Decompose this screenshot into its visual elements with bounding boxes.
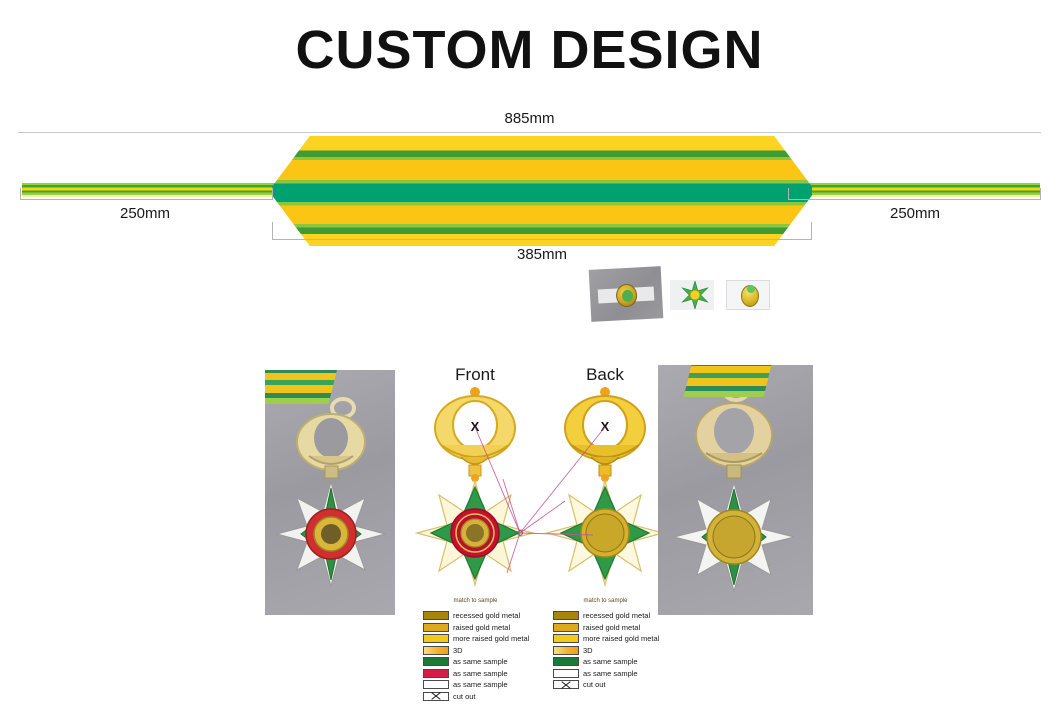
reference-photo-back (658, 365, 813, 615)
legend-label: as same sample (583, 657, 638, 666)
legend-label: more raised gold metal (453, 634, 529, 643)
dimension-label-center: 385mm (272, 246, 812, 263)
medal-design-panel: Front X (0, 355, 1059, 713)
photo-ribbon-back (684, 365, 773, 397)
oval-medal-thumbnail (726, 280, 770, 310)
legend-row: as same sample (553, 668, 659, 679)
cutout-mark-back: X (601, 419, 610, 434)
photo-thumbnail (589, 266, 664, 322)
dimension-label-total: 885mm (0, 110, 1059, 127)
dimension-label-right-tail: 250mm (790, 205, 1040, 222)
back-design-drawing: X (545, 383, 665, 598)
medal-photo-front-art (265, 370, 395, 615)
top-dimension-rule (18, 132, 1041, 133)
legend-color-swatch (423, 657, 449, 666)
legend-color-swatch (553, 669, 579, 678)
legend-row: as same sample (423, 668, 529, 679)
legend-row: more raised gold metal (553, 633, 659, 644)
legend-label: as same sample (453, 680, 508, 689)
legend-row: raised gold metal (553, 622, 659, 633)
legend-label: as same sample (583, 669, 638, 678)
legend-color-swatch (553, 611, 579, 620)
dimension-bracket-center (272, 222, 812, 240)
ribbon-dimension-diagram: 885mm 250mm 250mm 385mm (0, 110, 1059, 270)
legend-row: 3D (423, 645, 529, 656)
legend-row: as same sample (423, 656, 529, 667)
match-note-front: match to sample (418, 598, 533, 604)
legend-row: as same sample (423, 679, 529, 690)
legend-row: as same sample (553, 656, 659, 667)
custom-design-sheet: CUSTOM DESIGN 885mm 250mm 250mm 385mm (0, 0, 1059, 713)
legend-label: raised gold metal (583, 623, 640, 632)
star-badge-icon (681, 281, 709, 309)
back-view-label: Back (550, 365, 660, 385)
front-design-drawing: X (415, 383, 535, 598)
legend-label: cut out (583, 680, 606, 689)
front-view-label: Front (420, 365, 530, 385)
reference-photo-front (265, 370, 395, 615)
legend-row: 3D (553, 645, 659, 656)
legend-color-swatch (423, 646, 449, 655)
thumbnail-medal-icon (615, 283, 637, 307)
legend-color-swatch (423, 611, 449, 620)
cutout-mark-front: X (471, 419, 480, 434)
legend-color-swatch (553, 657, 579, 666)
legend-row: raised gold metal (423, 622, 529, 633)
dimension-bracket-left (20, 188, 273, 200)
legend-label: recessed gold metal (583, 611, 650, 620)
legend-label: recessed gold metal (453, 611, 520, 620)
legend-row: cut out (553, 679, 659, 690)
legend-label: 3D (453, 646, 463, 655)
thumbnail-row (590, 268, 810, 323)
cutout-swatch-icon (553, 680, 579, 689)
legend-label: as same sample (453, 669, 508, 678)
legend-front: recessed gold metalraised gold metalmore… (423, 610, 529, 702)
legend-label: more raised gold metal (583, 634, 659, 643)
legend-back: recessed gold metalraised gold metalmore… (553, 610, 659, 691)
legend-color-swatch (553, 623, 579, 632)
legend-label: cut out (453, 692, 476, 701)
legend-color-swatch (553, 634, 579, 643)
cutout-swatch-icon (423, 692, 449, 701)
photo-ribbon-front (265, 370, 337, 404)
legend-color-swatch (553, 646, 579, 655)
legend-label: raised gold metal (453, 623, 510, 632)
legend-row: cut out (423, 691, 529, 702)
star-badge-thumbnail (670, 280, 714, 310)
legend-row: recessed gold metal (553, 610, 659, 621)
match-note-back: match to sample (548, 598, 663, 604)
dimension-bracket-right (788, 188, 1041, 200)
dimension-label-left-tail: 250mm (20, 205, 270, 222)
page-title: CUSTOM DESIGN (0, 18, 1059, 82)
legend-label: as same sample (453, 657, 508, 666)
oval-medal-icon (741, 285, 759, 307)
legend-color-swatch (423, 680, 449, 689)
legend-color-swatch (423, 634, 449, 643)
medal-photo-back-art (658, 365, 813, 615)
legend-label: 3D (583, 646, 593, 655)
legend-color-swatch (423, 623, 449, 632)
legend-row: recessed gold metal (423, 610, 529, 621)
legend-color-swatch (423, 669, 449, 678)
legend-row: more raised gold metal (423, 633, 529, 644)
